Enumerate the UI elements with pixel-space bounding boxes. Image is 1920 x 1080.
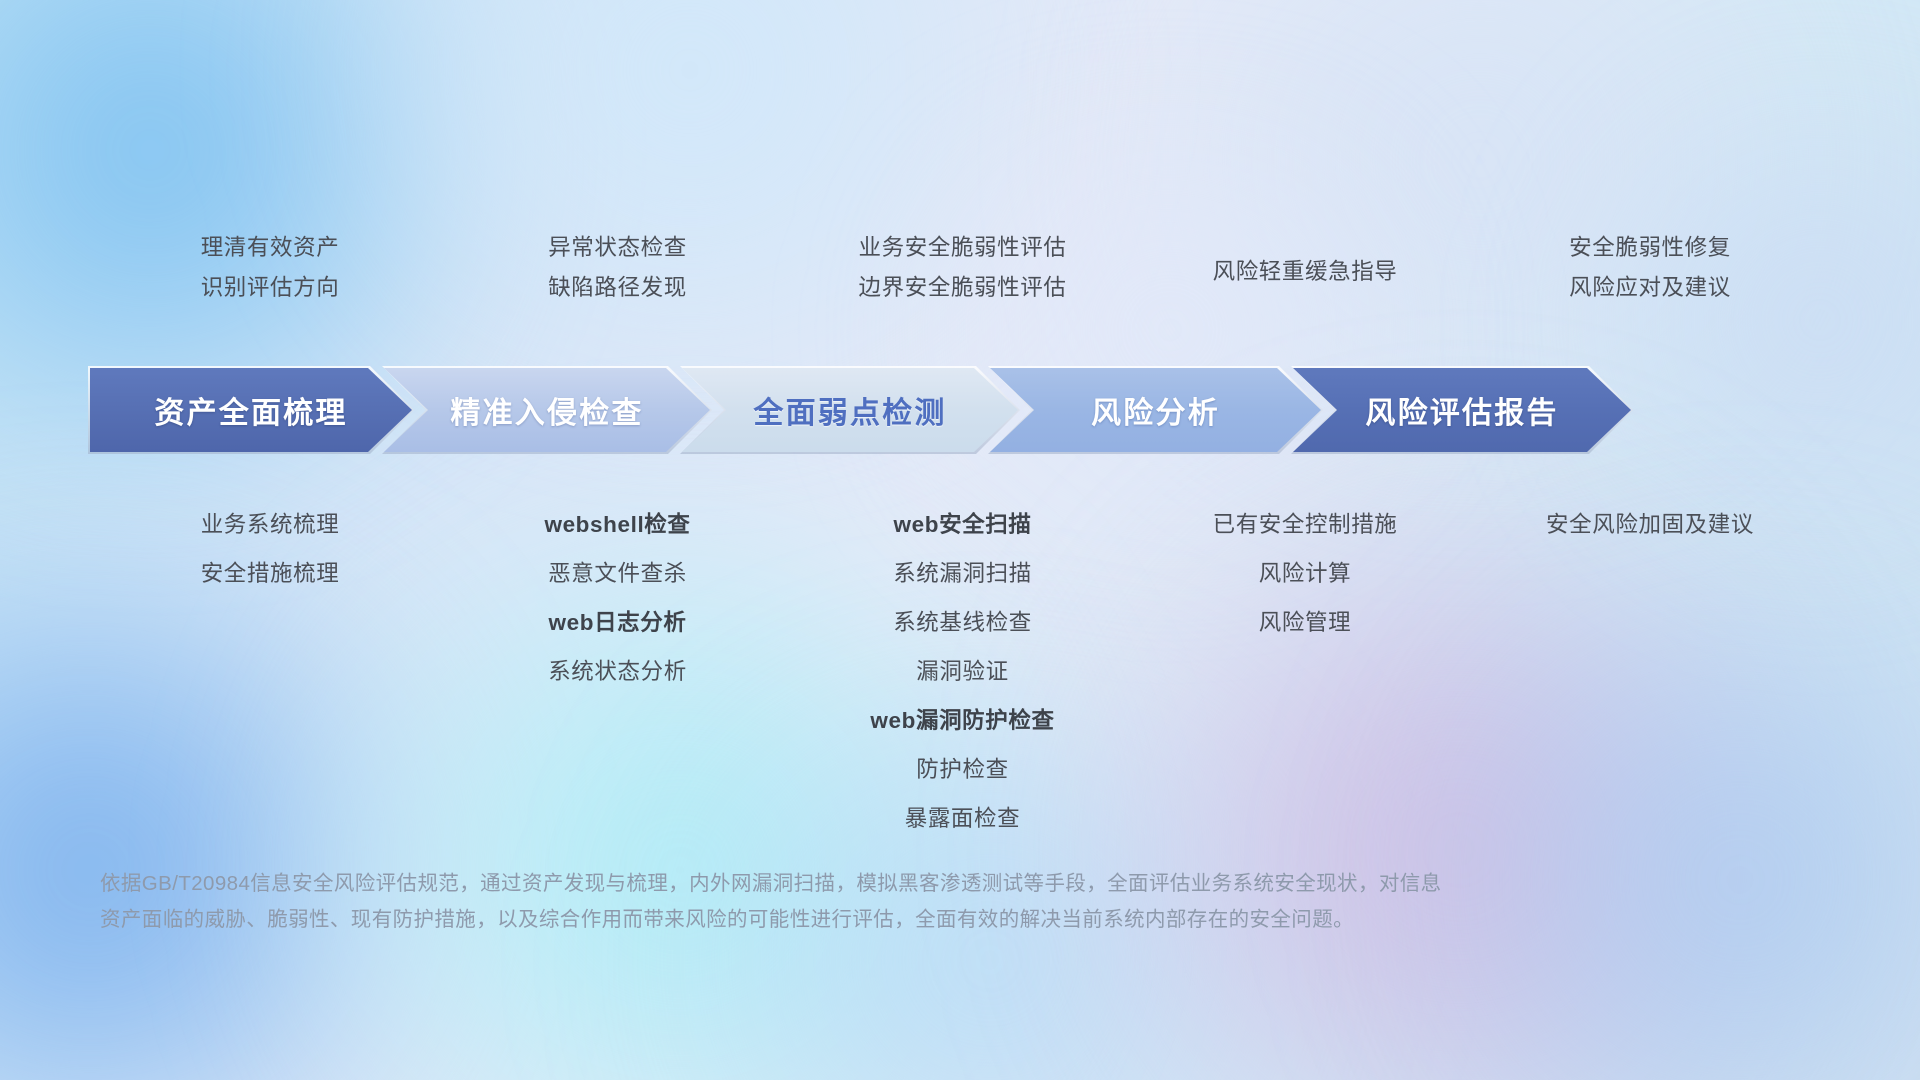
- list-item: 系统漏洞扫描: [790, 549, 1135, 598]
- list-item: 安全措施梳理: [95, 549, 445, 598]
- stage-column-asset-inventory-top: 理清有效资产 识别评估方向: [95, 228, 445, 338]
- top-label-5-2: 风险应对及建议: [1475, 268, 1825, 308]
- top-label-5-1: 安全脆弱性修复: [1475, 228, 1825, 268]
- stage-column-risk-report-bottom: 安全风险加固及建议: [1475, 500, 1825, 549]
- chevron-label-5: 风险评估报告: [1365, 388, 1558, 432]
- bottom-list-1: 业务系统梳理 安全措施梳理: [95, 500, 445, 598]
- top-label-3-1: 业务安全脆弱性评估: [790, 228, 1135, 268]
- stage-column-risk-report-top: 安全脆弱性修复 风险应对及建议: [1475, 228, 1825, 338]
- bottom-lists-row: 业务系统梳理 安全措施梳理 webshell检查 恶意文件查杀 web日志分析 …: [95, 500, 1825, 843]
- top-label-4-1: 风险轻重缓急指导: [1135, 252, 1475, 292]
- bottom-list-3: web安全扫描 系统漏洞扫描 系统基线检查 漏洞验证 web漏洞防护检查 防护检…: [790, 500, 1135, 843]
- stage-column-intrusion-check-top: 异常状态检查 缺陷路径发现: [445, 228, 790, 338]
- top-labels-row: 理清有效资产 识别评估方向 异常状态检查 缺陷路径发现 业务安全脆弱性评估 边界…: [95, 228, 1825, 338]
- top-label-2-1: 异常状态检查: [445, 228, 790, 268]
- stage-column-risk-analysis-bottom: 已有安全控制措施 风险计算 风险管理: [1135, 500, 1475, 647]
- list-item: 暴露面检查: [790, 794, 1135, 843]
- chevron-stage-weakness-detection[interactable]: 全面弱点检测: [680, 366, 1020, 454]
- chevron-stage-asset-inventory[interactable]: 资产全面梳理: [88, 366, 414, 454]
- list-item: 系统状态分析: [445, 647, 790, 696]
- top-label-group-2: 异常状态检查 缺陷路径发现: [445, 228, 790, 308]
- bottom-list-4: 已有安全控制措施 风险计算 风险管理: [1135, 500, 1475, 647]
- bottom-list-2: webshell检查 恶意文件查杀 web日志分析 系统状态分析: [445, 500, 790, 696]
- footer-description: 依据GB/T20984信息安全风险评估规范，通过资产发现与梳理，内外网漏洞扫描，…: [100, 866, 1610, 938]
- stage-column-weakness-detection-bottom: web安全扫描 系统漏洞扫描 系统基线检查 漏洞验证 web漏洞防护检查 防护检…: [790, 500, 1135, 843]
- chevron-stage-risk-report[interactable]: 风险评估报告: [1291, 366, 1633, 454]
- chevron-stage-intrusion-check[interactable]: 精准入侵检查: [382, 366, 712, 454]
- list-item: web漏洞防护检查: [790, 696, 1135, 745]
- footer-line-2: 资产面临的威胁、脆弱性、现有防护措施，以及综合作用而带来风险的可能性进行评估，全…: [100, 902, 1610, 938]
- list-item: 风险计算: [1135, 549, 1475, 598]
- bottom-list-5: 安全风险加固及建议: [1475, 500, 1825, 549]
- footer-line-1: 依据GB/T20984信息安全风险评估规范，通过资产发现与梳理，内外网漏洞扫描，…: [100, 866, 1610, 902]
- top-label-1-1: 理清有效资产: [95, 228, 445, 268]
- top-label-group-4: 风险轻重缓急指导: [1135, 252, 1475, 292]
- top-label-group-1: 理清有效资产 识别评估方向: [95, 228, 445, 308]
- list-item: 系统基线检查: [790, 598, 1135, 647]
- list-item: webshell检查: [445, 500, 790, 549]
- top-label-group-3: 业务安全脆弱性评估 边界安全脆弱性评估: [790, 228, 1135, 308]
- slide-canvas: 理清有效资产 识别评估方向 异常状态检查 缺陷路径发现 业务安全脆弱性评估 边界…: [0, 0, 1920, 1080]
- top-label-3-2: 边界安全脆弱性评估: [790, 268, 1135, 308]
- list-item: 漏洞验证: [790, 647, 1135, 696]
- chevron-label-3: 全面弱点检测: [753, 388, 946, 432]
- chevron-label-4: 风险分析: [1091, 388, 1220, 432]
- list-item: web安全扫描: [790, 500, 1135, 549]
- stage-column-weakness-detection-top: 业务安全脆弱性评估 边界安全脆弱性评估: [790, 228, 1135, 338]
- stage-column-intrusion-check-bottom: webshell检查 恶意文件查杀 web日志分析 系统状态分析: [445, 500, 790, 696]
- top-label-1-2: 识别评估方向: [95, 268, 445, 308]
- chevron-label-1: 资产全面梳理: [154, 388, 347, 432]
- stage-column-risk-analysis-top: 风险轻重缓急指导: [1135, 228, 1475, 338]
- stage-column-asset-inventory-bottom: 业务系统梳理 安全措施梳理: [95, 500, 445, 598]
- list-item: 恶意文件查杀: [445, 549, 790, 598]
- list-item: 安全风险加固及建议: [1475, 500, 1825, 549]
- chevron-stage-risk-analysis[interactable]: 风险分析: [988, 366, 1323, 454]
- list-item: 已有安全控制措施: [1135, 500, 1475, 549]
- list-item: web日志分析: [445, 598, 790, 647]
- process-chevron-band: 资产全面梳理 精准入侵检查 全面弱点检测 风险分析 风险评估报告: [88, 366, 1833, 454]
- top-label-2-2: 缺陷路径发现: [445, 268, 790, 308]
- list-item: 业务系统梳理: [95, 500, 445, 549]
- diagram-content: 理清有效资产 识别评估方向 异常状态检查 缺陷路径发现 业务安全脆弱性评估 边界…: [0, 0, 1920, 1080]
- list-item: 防护检查: [790, 745, 1135, 794]
- top-label-group-5: 安全脆弱性修复 风险应对及建议: [1475, 228, 1825, 308]
- chevron-label-2: 精准入侵检查: [450, 388, 643, 432]
- list-item: 风险管理: [1135, 598, 1475, 647]
